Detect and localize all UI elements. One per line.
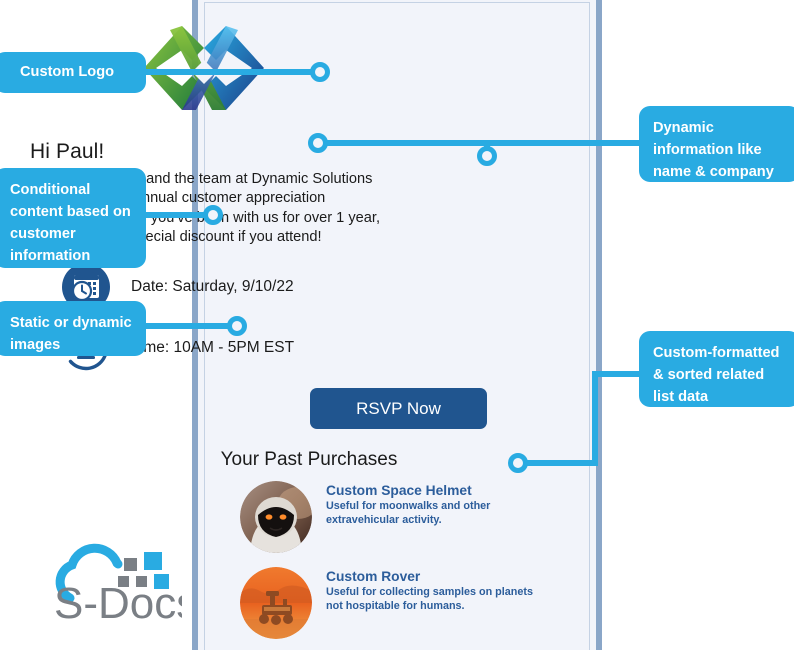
- event-time-text: Time: 10AM - 5PM EST: [131, 339, 294, 357]
- purchase-name: Custom Rover: [326, 569, 548, 584]
- connector-custom-logo: [140, 69, 316, 75]
- callout-static-dynamic-images[interactable]: Static or dynamic images: [0, 301, 146, 356]
- connector-list-vertical: [592, 371, 598, 466]
- purchase-description: Useful for moonwalks and other extravehi…: [326, 500, 548, 527]
- connector-node-images: [227, 316, 247, 336]
- connector-conditional: [140, 212, 210, 218]
- event-date-text: Date: Saturday, 9/10/22: [131, 278, 294, 296]
- rsvp-button[interactable]: RSVP Now: [310, 388, 487, 429]
- connector-node-company: [477, 146, 497, 166]
- connector-node-list: [508, 453, 528, 473]
- list-item: Custom Space Helmet Useful for moonwalks…: [240, 481, 560, 553]
- dynamic-solutions-logo: [142, 22, 266, 114]
- purchase-name: Custom Space Helmet: [326, 483, 548, 498]
- sdocs-logo: S-Docs: [32, 536, 182, 628]
- past-purchases-title: Your Past Purchases: [221, 449, 398, 471]
- astronaut-helmet-photo: [240, 481, 312, 553]
- diagram-canvas: Hi Paul! We'd love for you and the team …: [0, 0, 794, 650]
- sdocs-wordmark: S-Docs: [54, 579, 182, 628]
- connector-node-custom-logo: [310, 62, 330, 82]
- callout-conditional-content[interactable]: Conditional content based on customer in…: [0, 168, 146, 268]
- greeting-text: Hi Paul!: [30, 140, 104, 164]
- connector-images: [140, 323, 236, 329]
- connector-list-bottom: [524, 460, 598, 466]
- callout-dynamic-information[interactable]: Dynamic information like name & company: [639, 106, 794, 182]
- connector-node-greeting: [308, 133, 328, 153]
- list-item: Custom Rover Useful for collecting sampl…: [240, 567, 560, 639]
- connector-node-conditional: [203, 205, 223, 225]
- callout-custom-logo[interactable]: Custom Logo: [0, 52, 146, 93]
- connector-list-top: [592, 371, 644, 377]
- mars-rover-photo: [240, 567, 312, 639]
- purchase-description: Useful for collecting samples on planets…: [326, 586, 548, 613]
- callout-custom-formatted-list[interactable]: Custom-formatted & sorted related list d…: [639, 331, 794, 407]
